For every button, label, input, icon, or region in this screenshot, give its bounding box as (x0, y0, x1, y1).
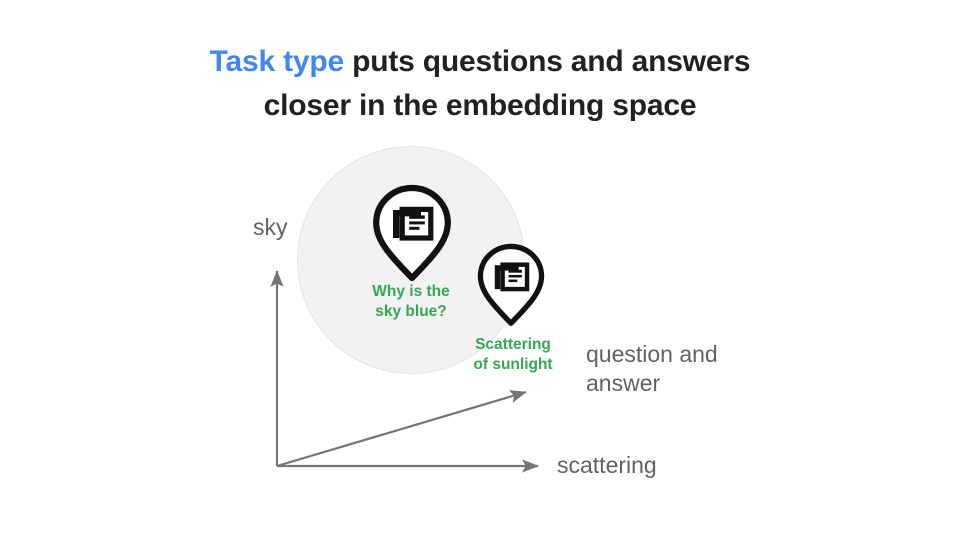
map-pin-answer[interactable] (476, 243, 546, 327)
axis-label-scattering: scattering (557, 451, 657, 480)
embedding-space-diagram: Why is the sky blue? Scattering of sunli… (0, 0, 960, 540)
slide-canvas: Task type puts questions and answers clo… (0, 0, 960, 540)
axis-line-question-answer (277, 392, 526, 466)
map-pin-article-icon (371, 184, 453, 282)
point-label-question: Why is the sky blue? (345, 282, 477, 322)
axis-label-question-and-answer: question and answer (586, 340, 786, 398)
map-pin-article-icon (476, 243, 546, 327)
point-label-answer: Scattering of sunlight (450, 335, 576, 375)
map-pin-question[interactable] (371, 184, 453, 282)
axis-label-sky: sky (253, 213, 288, 242)
